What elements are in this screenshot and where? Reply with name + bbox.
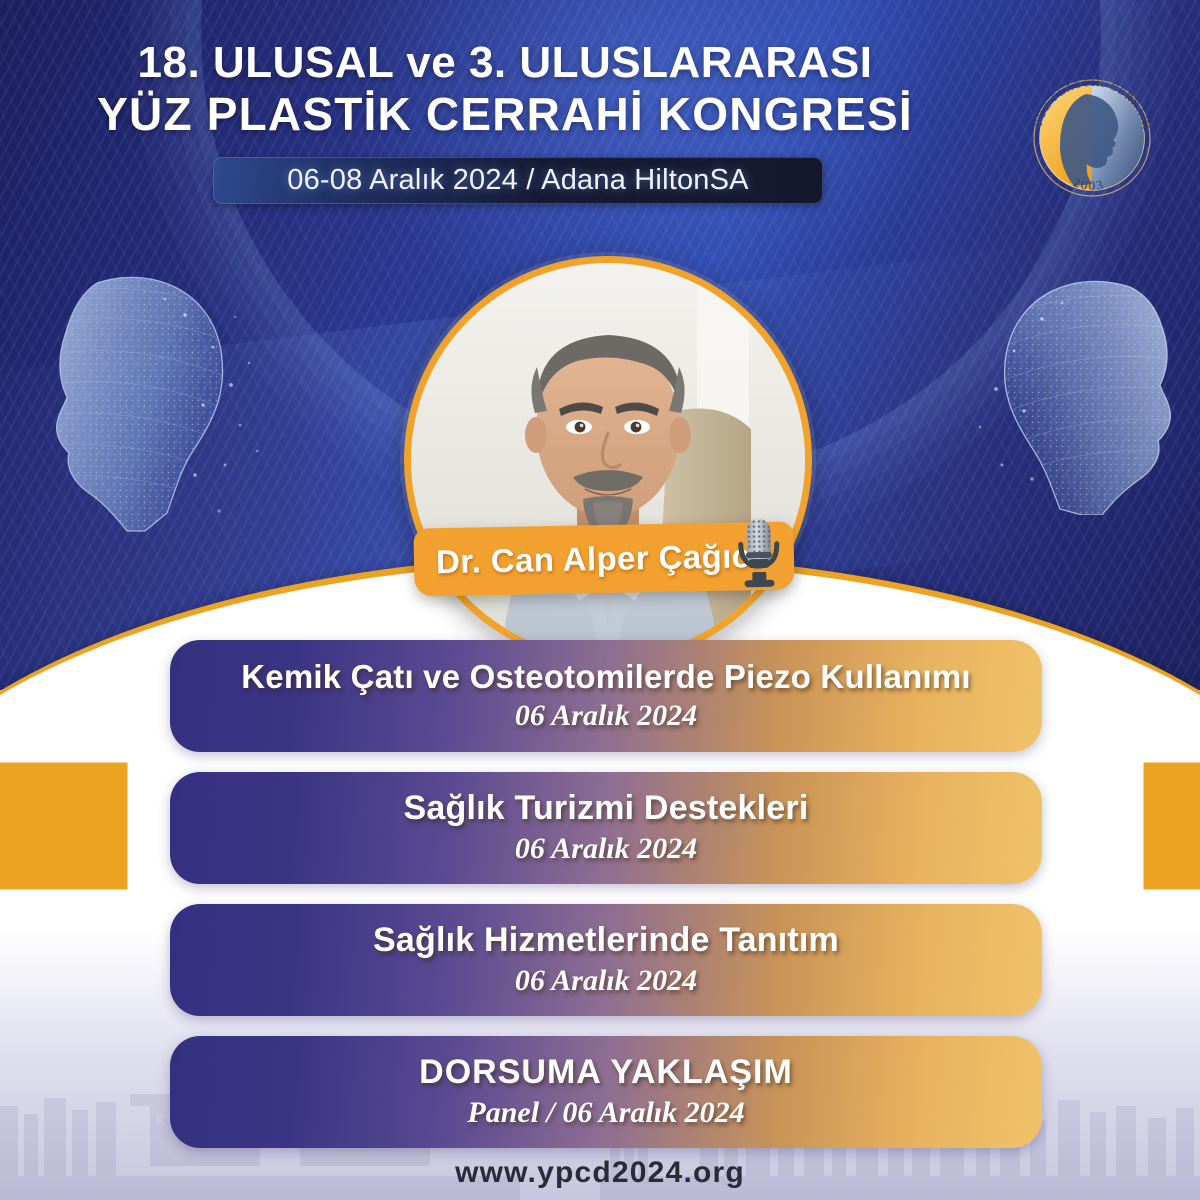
speaker-photo-frame: [404, 256, 812, 664]
wireframe-face-icon: [35, 255, 270, 535]
microphone-icon: [731, 514, 786, 593]
association-logo: YÜZ PLASTİK CERRAHİ DERNEĞİ 2003: [1012, 58, 1172, 218]
topic-title: Sağlık Hizmetlerinde Tanıtım: [373, 922, 839, 959]
congress-poster: 18. ULUSAL ve 3. ULUSLARARASI YÜZ PLASTİ…: [0, 0, 1200, 1200]
website-url[interactable]: www.ypcd2024.org: [0, 1156, 1200, 1190]
date-venue-text: 06-08 Aralık 2024 / Adana HiltonSA: [287, 164, 748, 197]
speaker-name: Dr. Can Alper Çağıcı: [436, 537, 761, 581]
title-line-2: YÜZ PLASTİK CERRAHİ KONGRESİ: [0, 91, 1010, 138]
wireframe-face-icon: [955, 265, 1190, 515]
topic-date: Panel / 06 Aralık 2024: [467, 1096, 744, 1130]
poster-title: 18. ULUSAL ve 3. ULUSLARARASI YÜZ PLASTİ…: [0, 40, 1010, 139]
topic-card[interactable]: Sağlık Hizmetlerinde Tanıtım 06 Aralık 2…: [170, 904, 1042, 1016]
topic-date: 06 Aralık 2024: [515, 699, 697, 733]
speaker-portrait: [411, 263, 805, 657]
title-line-1: 18. ULUSAL ve 3. ULUSLARARASI: [0, 40, 1010, 85]
topic-card[interactable]: DORSUMA YAKLAŞIM Panel / 06 Aralık 2024: [170, 1036, 1042, 1148]
topic-date: 06 Aralık 2024: [515, 964, 697, 998]
date-venue-badge: 06-08 Aralık 2024 / Adana HiltonSA: [213, 157, 823, 204]
topic-date: 06 Aralık 2024: [515, 832, 697, 866]
topic-card[interactable]: Kemik Çatı ve Osteotomilerde Piezo Kulla…: [170, 640, 1042, 752]
speaker-name-banner: Dr. Can Alper Çağıcı: [413, 521, 794, 596]
topic-title: Kemik Çatı ve Osteotomilerde Piezo Kulla…: [241, 659, 971, 695]
topic-title: DORSUMA YAKLAŞIM: [419, 1054, 793, 1091]
topic-card-list: Kemik Çatı ve Osteotomilerde Piezo Kulla…: [170, 640, 1042, 1168]
topic-card[interactable]: Sağlık Turizmi Destekleri 06 Aralık 2024: [170, 772, 1042, 884]
topic-title: Sağlık Turizmi Destekleri: [404, 790, 809, 827]
